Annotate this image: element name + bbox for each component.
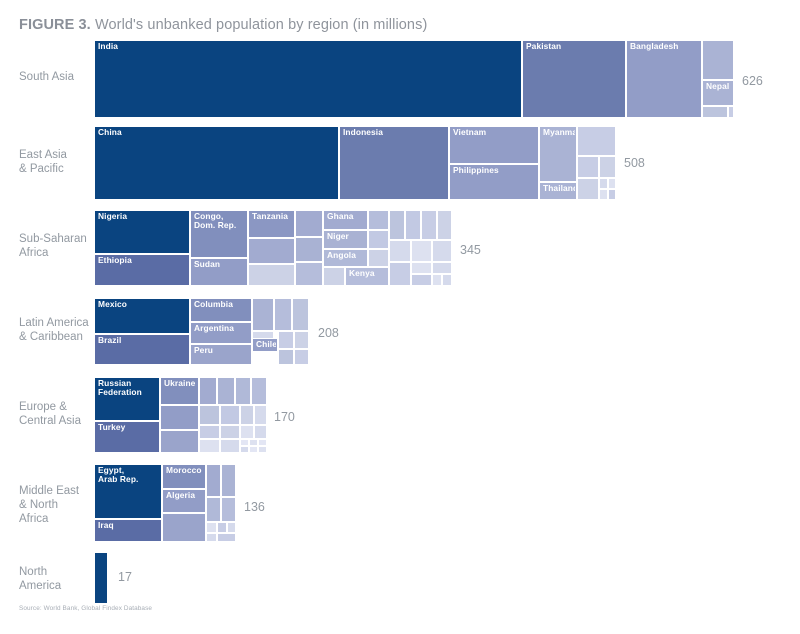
region-label-latin-america-caribbean: Latin America & Caribbean <box>19 316 91 344</box>
tile-nigeria[interactable]: Nigeria <box>94 210 190 254</box>
tile-label: Sudan <box>194 260 246 269</box>
tile-label: Ghana <box>327 212 366 221</box>
tile-label: Vietnam <box>453 128 537 137</box>
tile-mena-unlabeled-7[interactable] <box>217 522 227 533</box>
tile-ssa-unlabeled-15[interactable] <box>411 240 432 262</box>
tile-congo-dom-rep[interactable]: Congo, Dom. Rep. <box>190 210 248 258</box>
tile-label: Kenya <box>349 269 387 278</box>
tile-ssa-unlabeled-6[interactable] <box>323 267 345 286</box>
tile-ghana[interactable]: Ghana <box>323 210 368 230</box>
tile-eap-unlabeled-7[interactable] <box>599 189 608 200</box>
tile-nepal[interactable]: Nepal <box>702 80 734 106</box>
tile-lac-unlabeled-7[interactable] <box>278 349 294 365</box>
tile-label: Argentina <box>194 324 250 333</box>
region-row-latin-america-caribbean: Latin America & Caribbean Mexico Brazil … <box>0 298 800 373</box>
tile-mena-unlabeled-2[interactable] <box>206 464 221 497</box>
tile-label: Iraq <box>98 521 160 530</box>
tile-mena-unlabeled-5[interactable] <box>221 497 236 522</box>
region-total-north-america: 17 <box>118 570 132 584</box>
tile-ssa-unlabeled-8[interactable] <box>368 230 389 249</box>
treemap-middle-east-north-africa: Egypt, Arab Rep. Iraq Morocco Algeria <box>94 464 236 542</box>
tile-eca-unlabeled-5[interactable] <box>235 377 251 405</box>
tile-label: Peru <box>194 346 250 355</box>
region-total-latin-america-caribbean: 208 <box>318 326 339 340</box>
tile-label: Algeria <box>166 491 204 500</box>
tile-turkey[interactable]: Turkey <box>94 421 160 453</box>
tile-label: Columbia <box>194 300 250 309</box>
tile-north-america[interactable] <box>94 552 108 604</box>
tile-label: Indonesia <box>343 128 447 137</box>
tile-lac-unlabeled-2[interactable] <box>274 298 292 331</box>
region-total-sub-saharan-africa: 345 <box>460 243 481 257</box>
treemap-europe-central-asia: Russian Federation Turkey Ukraine <box>94 377 267 453</box>
tile-ssa-unlabeled-5[interactable] <box>295 262 323 286</box>
tile-eca-unlabeled-10[interactable] <box>254 405 267 425</box>
tile-ethiopia[interactable]: Ethiopia <box>94 254 190 286</box>
tile-ukraine[interactable]: Ukraine <box>160 377 199 405</box>
tile-ssa-unlabeled-21[interactable] <box>432 274 442 286</box>
region-row-europe-central-asia: Europe & Central Asia Russian Federation… <box>0 377 800 460</box>
tile-ssa-unlabeled-18[interactable] <box>411 262 432 274</box>
region-label-europe-central-asia: Europe & Central Asia <box>19 400 91 428</box>
source-note: Source: World Bank, Global Findex Databa… <box>19 605 152 612</box>
page-title: FIGURE 3. World's unbanked population by… <box>19 17 427 33</box>
tile-ssa-unlabeled-12[interactable] <box>421 210 437 240</box>
tile-lac-unlabeled-3[interactable] <box>292 298 309 331</box>
tile-label: Turkey <box>98 423 158 432</box>
tile-ssa-unlabeled-14[interactable] <box>389 240 411 262</box>
tile-eap-unlabeled-1[interactable] <box>577 126 616 156</box>
tile-bangladesh[interactable]: Bangladesh <box>626 40 702 118</box>
figure-container: FIGURE 3. World's unbanked population by… <box>0 0 800 634</box>
tile-lac-unlabeled-1[interactable] <box>252 298 274 331</box>
region-total-east-asia-pacific: 508 <box>624 156 645 170</box>
tile-mena-unlabeled-4[interactable] <box>206 497 221 522</box>
tile-label: Egypt, Arab Rep. <box>98 466 160 485</box>
tile-eca-unlabeled-16[interactable] <box>220 439 240 453</box>
tile-eca-unlabeled-14[interactable] <box>254 425 267 439</box>
tile-eap-unlabeled-5[interactable] <box>599 178 608 189</box>
tile-mena-unlabeled-3[interactable] <box>221 464 236 497</box>
region-row-middle-east-north-africa: Middle East & North Africa Egypt, Arab R… <box>0 464 800 548</box>
tile-mena-unlabeled-10[interactable] <box>217 533 236 542</box>
tile-eca-unlabeled-19[interactable] <box>258 439 267 446</box>
tile-niger[interactable]: Niger <box>323 230 368 249</box>
tile-eap-unlabeled-3[interactable] <box>599 156 616 178</box>
tile-eca-unlabeled-17[interactable] <box>240 439 249 446</box>
tile-ssa-unlabeled-16[interactable] <box>432 240 452 262</box>
tile-thailand[interactable]: Thailand <box>539 182 577 200</box>
tile-eca-unlabeled-1[interactable] <box>160 405 199 430</box>
tile-label: Congo, Dom. Rep. <box>194 212 246 231</box>
tile-angola[interactable]: Angola <box>323 249 368 267</box>
tile-peru[interactable]: Peru <box>190 344 252 365</box>
tile-eca-unlabeled-7[interactable] <box>199 405 220 425</box>
region-total-south-asia: 626 <box>742 74 763 88</box>
tile-eap-unlabeled-4[interactable] <box>577 178 599 200</box>
tile-china[interactable]: China <box>94 126 339 200</box>
tile-eca-unlabeled-3[interactable] <box>199 377 217 405</box>
region-row-sub-saharan-africa: Sub-Saharan Africa Nigeria Ethiopia Cong… <box>0 210 800 294</box>
tile-label: Myanmar <box>543 128 575 137</box>
tile-label: Angola <box>327 251 366 260</box>
tile-eap-unlabeled-2[interactable] <box>577 156 599 178</box>
tile-eca-unlabeled-20[interactable] <box>240 446 249 453</box>
tile-ssa-unlabeled-13[interactable] <box>437 210 452 240</box>
tile-eap-unlabeled-8[interactable] <box>608 189 616 200</box>
tile-lac-unlabeled-6[interactable] <box>294 331 309 349</box>
treemap-south-asia: India Pakistan Bangladesh Nepal <box>94 40 734 118</box>
tile-sudan[interactable]: Sudan <box>190 258 248 286</box>
tile-label: Pakistan <box>526 42 624 51</box>
tile-label: Nepal <box>706 82 732 91</box>
tile-label: Nigeria <box>98 212 188 221</box>
tile-label: Tanzania <box>252 212 293 221</box>
treemap-latin-america-caribbean: Mexico Brazil Columbia Argentina Peru Ch… <box>94 298 309 365</box>
tile-ssa-unlabeled-11[interactable] <box>405 210 421 240</box>
tile-tanzania[interactable]: Tanzania <box>248 210 295 238</box>
tile-columbia[interactable]: Columbia <box>190 298 252 322</box>
tile-eca-unlabeled-4[interactable] <box>217 377 235 405</box>
tile-argentina[interactable]: Argentina <box>190 322 252 344</box>
tile-chile[interactable]: Chile <box>252 338 278 352</box>
tile-myanmar[interactable]: Myanmar <box>539 126 577 182</box>
tile-mexico[interactable]: Mexico <box>94 298 190 334</box>
tile-lac-unlabeled-8[interactable] <box>294 349 309 365</box>
region-row-south-asia: South Asia India Pakistan Bangladesh Nep… <box>0 40 800 122</box>
region-label-south-asia: South Asia <box>19 70 91 84</box>
figure-title-text: World's unbanked population by region (i… <box>95 17 427 33</box>
tile-label: Ethiopia <box>98 256 188 265</box>
tile-label: Philippines <box>453 166 537 175</box>
tile-label: Russian Federation <box>98 379 158 398</box>
region-label-sub-saharan-africa: Sub-Saharan Africa <box>19 232 91 260</box>
tile-algeria[interactable]: Algeria <box>162 489 206 513</box>
tile-label: Thailand <box>543 184 575 193</box>
treemap-rows: South Asia India Pakistan Bangladesh Nep… <box>0 40 800 614</box>
tile-indonesia[interactable]: Indonesia <box>339 126 449 200</box>
tile-philippines[interactable]: Philippines <box>449 164 539 200</box>
tile-eca-unlabeled-12[interactable] <box>220 425 240 439</box>
tile-eca-unlabeled-8[interactable] <box>220 405 240 425</box>
tile-vietnam[interactable]: Vietnam <box>449 126 539 164</box>
tile-eca-unlabeled-15[interactable] <box>199 439 220 453</box>
tile-lac-unlabeled-5[interactable] <box>278 331 294 349</box>
tile-eca-unlabeled-21[interactable] <box>249 446 258 453</box>
tile-ssa-unlabeled-1[interactable] <box>248 238 295 264</box>
tile-ssa-unlabeled-7[interactable] <box>368 210 389 230</box>
tile-mena-unlabeled-6[interactable] <box>206 522 217 533</box>
tile-eca-unlabeled-2[interactable] <box>160 430 199 453</box>
region-label-middle-east-north-africa: Middle East & North Africa <box>19 484 91 526</box>
figure-number: FIGURE 3. <box>19 17 91 33</box>
tile-label: Ukraine <box>164 379 197 388</box>
tile-ssa-unlabeled-9[interactable] <box>368 249 389 267</box>
region-row-east-asia-pacific: East Asia & Pacific China Indonesia Viet… <box>0 126 800 206</box>
tile-egypt-arab-rep[interactable]: Egypt, Arab Rep. <box>94 464 162 519</box>
tile-russian-federation[interactable]: Russian Federation <box>94 377 160 421</box>
tile-label: Chile <box>256 340 276 349</box>
tile-ssa-unlabeled-10[interactable] <box>389 210 405 240</box>
tile-label: Brazil <box>98 336 188 345</box>
treemap-north-america <box>94 552 108 604</box>
tile-brazil[interactable]: Brazil <box>94 334 190 365</box>
region-label-north-america: North America <box>19 565 91 593</box>
tile-kenya[interactable]: Kenya <box>345 267 389 286</box>
tile-label: Mexico <box>98 300 188 309</box>
tile-mena-unlabeled-1[interactable] <box>162 513 206 542</box>
tile-eca-unlabeled-18[interactable] <box>249 439 258 446</box>
tile-label: China <box>98 128 337 137</box>
treemap-sub-saharan-africa: Nigeria Ethiopia Congo, Dom. Rep. Sudan … <box>94 210 452 286</box>
treemap-east-asia-pacific: China Indonesia Vietnam Philippines Myan… <box>94 126 616 200</box>
tile-ssa-unlabeled-20[interactable] <box>411 274 432 286</box>
tile-ssa-unlabeled-2[interactable] <box>248 264 295 286</box>
tile-label: Niger <box>327 232 366 241</box>
tile-ssa-unlabeled-3[interactable] <box>295 210 323 237</box>
tile-eca-unlabeled-11[interactable] <box>199 425 220 439</box>
tile-eap-unlabeled-6[interactable] <box>608 178 616 189</box>
tile-eca-unlabeled-22[interactable] <box>258 446 267 453</box>
tile-iraq[interactable]: Iraq <box>94 519 162 542</box>
tile-morocco[interactable]: Morocco <box>162 464 206 489</box>
tile-sa-unlabeled-1[interactable] <box>702 40 734 80</box>
tile-eca-unlabeled-9[interactable] <box>240 405 254 425</box>
tile-eca-unlabeled-6[interactable] <box>251 377 267 405</box>
tile-label: Bangladesh <box>630 42 700 51</box>
tile-mena-unlabeled-8[interactable] <box>227 522 236 533</box>
tile-ssa-unlabeled-22[interactable] <box>442 274 452 286</box>
tile-ssa-unlabeled-4[interactable] <box>295 237 323 262</box>
tile-mena-unlabeled-9[interactable] <box>206 533 217 542</box>
region-total-europe-central-asia: 170 <box>274 410 295 424</box>
region-label-east-asia-pacific: East Asia & Pacific <box>19 148 91 176</box>
tile-sa-unlabeled-3[interactable] <box>728 106 734 118</box>
tile-india[interactable]: India <box>94 40 522 118</box>
tile-ssa-unlabeled-19[interactable] <box>432 262 452 274</box>
tile-label: India <box>98 42 520 51</box>
tile-eca-unlabeled-13[interactable] <box>240 425 254 439</box>
tile-ssa-unlabeled-17[interactable] <box>389 262 411 286</box>
tile-sa-unlabeled-2[interactable] <box>702 106 728 118</box>
region-total-middle-east-north-africa: 136 <box>244 500 265 514</box>
tile-pakistan[interactable]: Pakistan <box>522 40 626 118</box>
tile-label: Morocco <box>166 466 204 475</box>
